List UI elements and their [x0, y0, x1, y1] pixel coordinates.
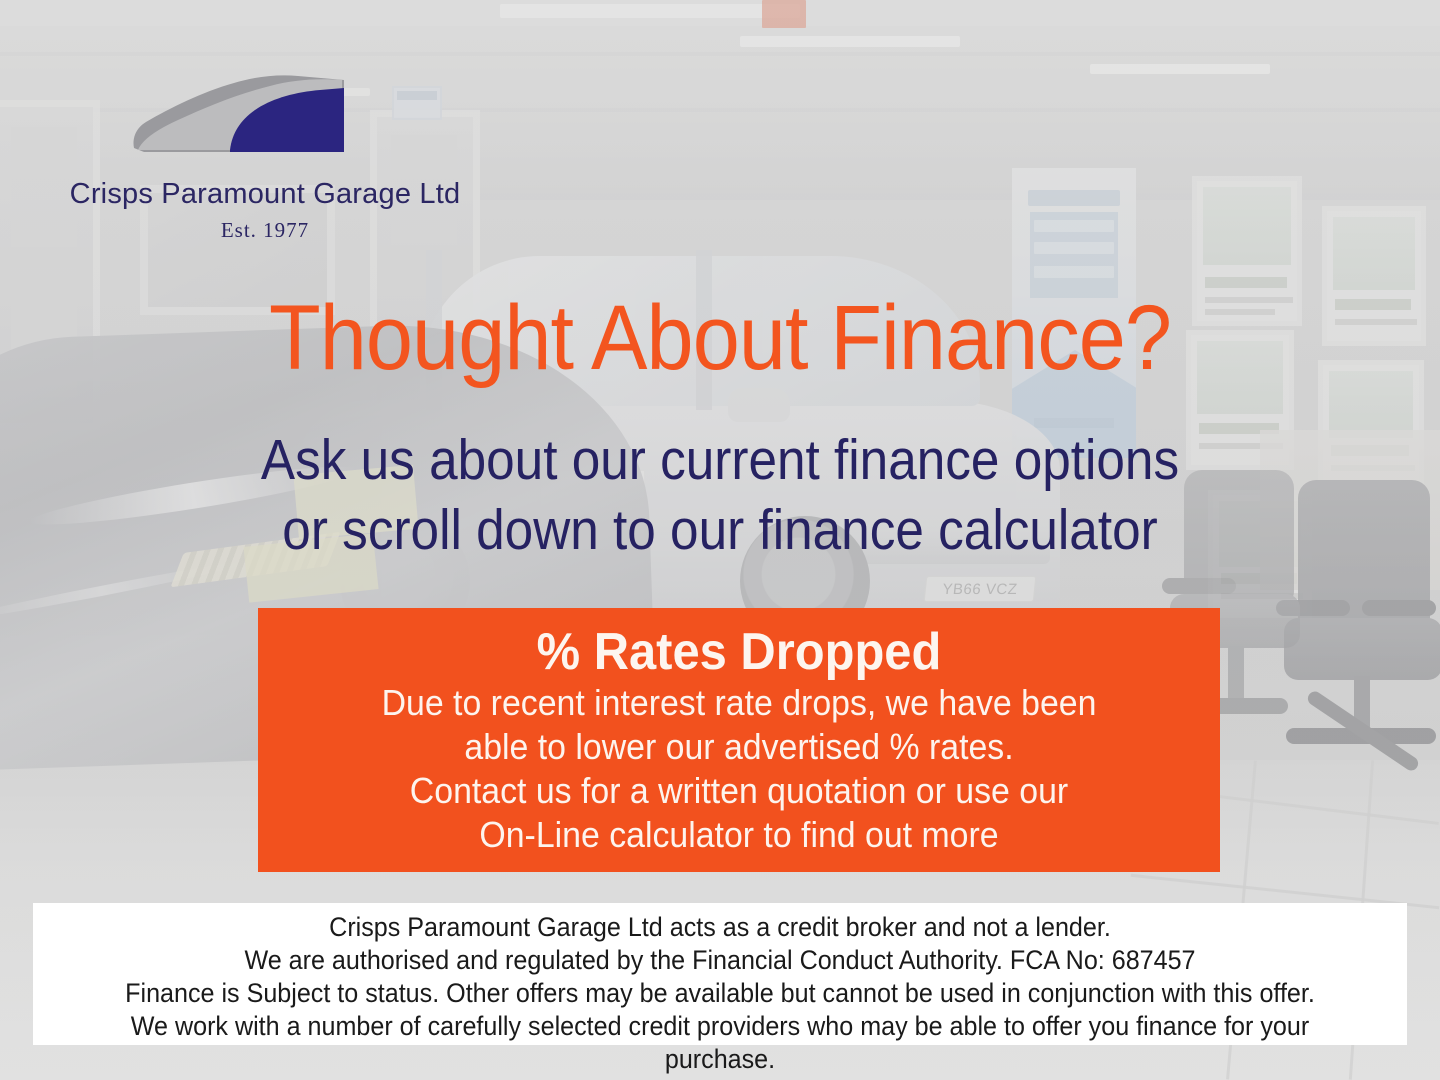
subheading: Ask us about our current finance options…	[72, 425, 1368, 565]
legal-disclaimer: Crisps Paramount Garage Ltd acts as a cr…	[33, 903, 1407, 1045]
poster-content: Crisps Paramount Garage Ltd Est. 1977 Th…	[0, 0, 1440, 1080]
disclaimer-line-1: Crisps Paramount Garage Ltd acts as a cr…	[81, 911, 1359, 944]
promo-line-4: On-Line calculator to find out more	[287, 813, 1191, 857]
company-logo: Crisps Paramount Garage Ltd Est. 1977	[30, 70, 500, 260]
rates-dropped-promo-box: % Rates Dropped Due to recent interest r…	[258, 608, 1220, 872]
promo-line-1: Due to recent interest rate drops, we ha…	[287, 681, 1191, 725]
established-year: Est. 1977	[30, 218, 500, 243]
promo-line-3: Contact us for a written quotation or us…	[287, 769, 1191, 813]
subheading-line-1: Ask us about our current finance options	[72, 425, 1368, 495]
company-name: Crisps Paramount Garage Ltd	[30, 178, 500, 211]
finance-promo-poster: YB66 VCZ Crisps Paramount Garage Ltd Est…	[0, 0, 1440, 1080]
disclaimer-line-4: We work with a number of carefully selec…	[81, 1010, 1359, 1076]
page-title: Thought About Finance?	[58, 292, 1383, 384]
disclaimer-line-3: Finance is Subject to status. Other offe…	[81, 977, 1359, 1010]
promo-title: % Rates Dropped	[287, 624, 1191, 681]
subheading-line-2: or scroll down to our finance calculator	[72, 495, 1368, 565]
car-silhouette-icon	[130, 70, 370, 160]
disclaimer-line-2: We are authorised and regulated by the F…	[81, 944, 1359, 977]
promo-line-2: able to lower our advertised % rates.	[287, 725, 1191, 769]
